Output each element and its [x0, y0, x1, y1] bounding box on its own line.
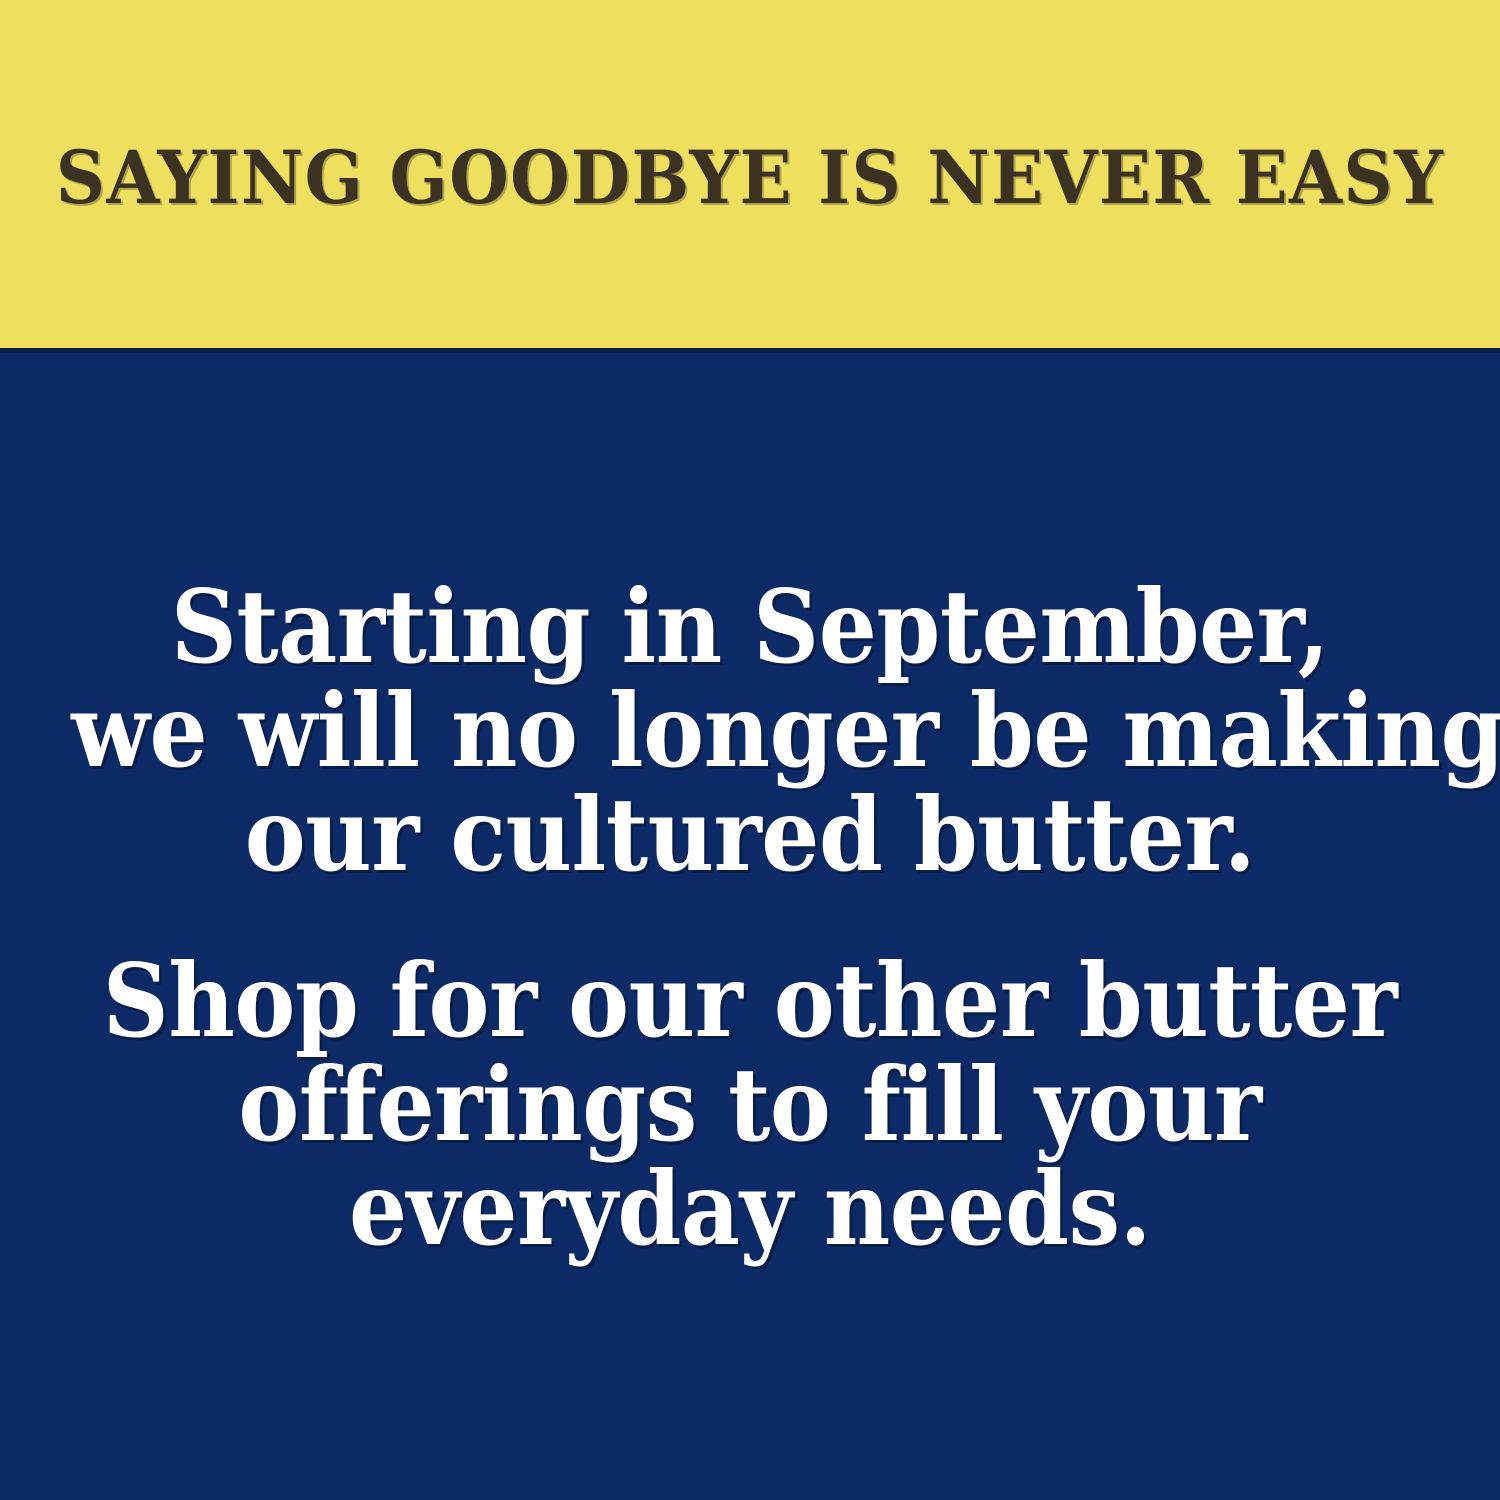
paragraph-line: everyday needs.: [71, 1157, 1429, 1261]
paragraph-line: Starting in September,: [71, 575, 1429, 679]
paragraph-shop-alternatives: Shop for our other butter offerings to f…: [0, 949, 1500, 1261]
paragraph-line: offerings to fill your: [71, 1053, 1429, 1157]
header-band: SAYING GOODBYE IS NEVER EASY: [0, 0, 1500, 348]
paragraph-discontinuation-notice: Starting in September, we will no longer…: [0, 575, 1500, 887]
promotional-announcement-poster: SAYING GOODBYE IS NEVER EASY Starting in…: [0, 0, 1500, 1500]
paragraph-line: we will no longer be making: [71, 679, 1429, 783]
page-title: SAYING GOODBYE IS NEVER EASY: [49, 133, 1452, 223]
message-body: Starting in September, we will no longer…: [0, 353, 1500, 1500]
paragraph-line: our cultured butter.: [71, 783, 1429, 887]
paragraph-line: Shop for our other butter: [71, 949, 1429, 1053]
